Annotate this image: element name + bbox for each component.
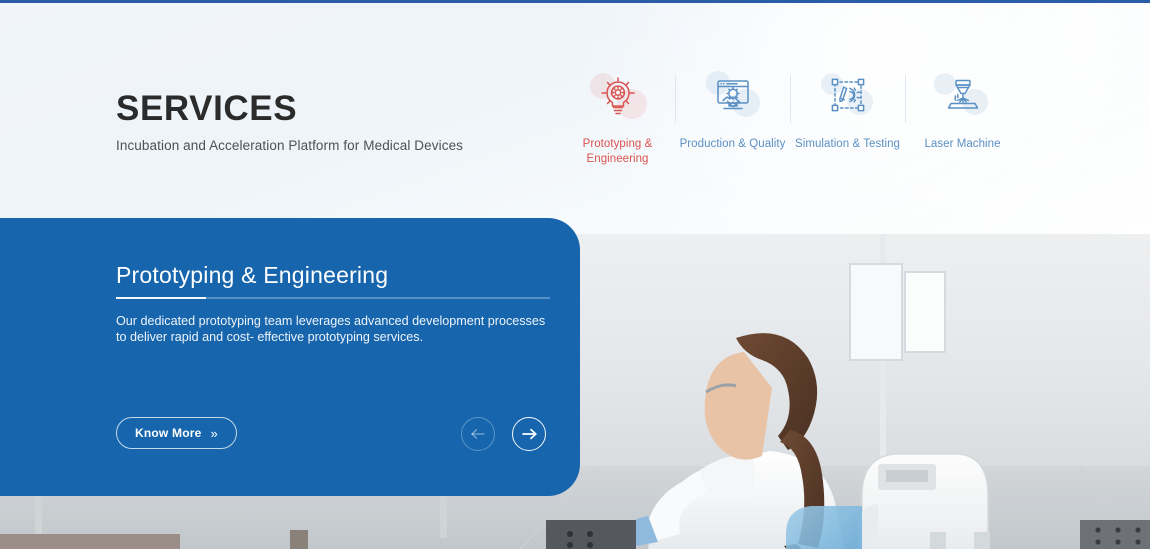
arrow-right-icon [521,428,538,440]
title-block: SERVICES Incubation and Acceleration Pla… [116,91,463,153]
service-nav-item-prototyping-engineering[interactable]: Prototyping & Engineering [560,69,675,167]
handshake-browser-icon [704,69,762,121]
page-subtitle: Incubation and Acceleration Platform for… [116,138,463,153]
slide-title-divider [116,297,550,299]
service-nav-item-label: Production & Quality [680,137,786,152]
service-nav-item-laser-machine[interactable]: Laser Machine [905,69,1020,152]
service-nav: Prototyping & Engineering [560,69,1020,167]
pen-gear-selection-icon [819,69,877,121]
arrow-left-icon [470,428,486,440]
page-header: SERVICES Incubation and Acceleration Pla… [0,3,1150,234]
slide-description: Our dedicated prototyping team leverages… [116,313,546,345]
know-more-label: Know More [135,426,201,440]
slide-navigation [461,417,546,451]
service-nav-item-label: Simulation & Testing [795,137,900,152]
service-nav-item-label: Prototyping & Engineering [560,137,675,167]
slide-panel: 01 [0,218,580,496]
know-more-button[interactable]: Know More » [116,417,237,449]
page-title: SERVICES [116,91,463,126]
next-slide-button[interactable] [512,417,546,451]
slide-title: Prototyping & Engineering [116,262,388,289]
lightbulb-gear-icon [589,69,647,121]
prev-slide-button[interactable] [461,417,495,451]
service-nav-item-label: Laser Machine [924,137,1000,152]
double-chevron-right-icon: » [210,426,217,441]
service-nav-item-simulation-testing[interactable]: Simulation & Testing [790,69,905,152]
laser-cutter-icon [934,69,992,121]
service-nav-item-production-quality[interactable]: Production & Quality [675,69,790,152]
